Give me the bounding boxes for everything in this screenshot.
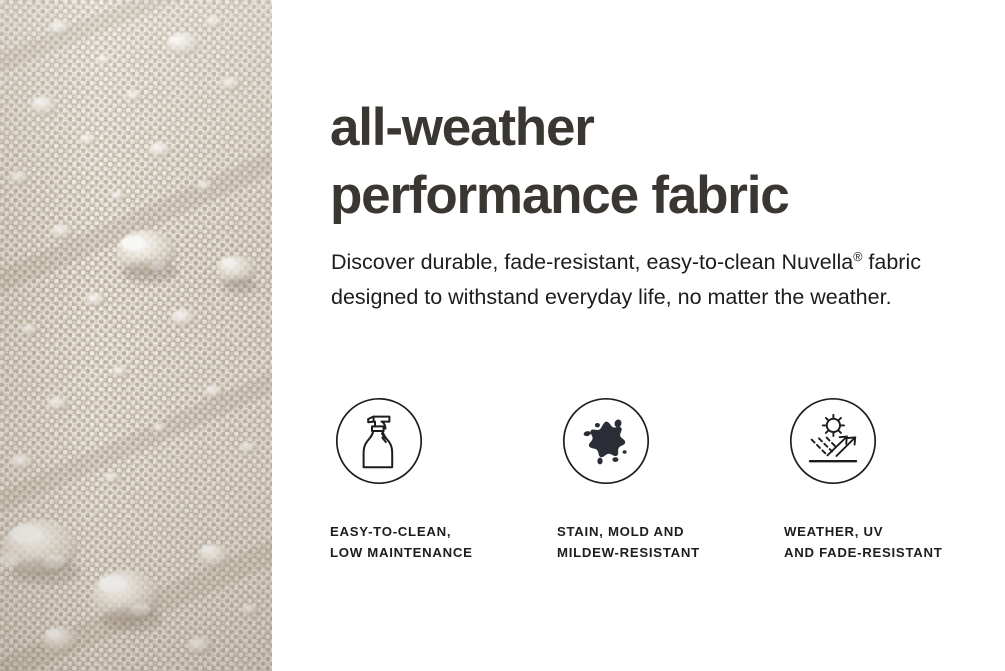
feature-easy-to-clean: EASY-TO-CLEAN, LOW MAINTENANCE	[330, 397, 557, 563]
feature-stain-resistant: STAIN, MOLD AND MILDEW-RESISTANT	[557, 397, 784, 563]
brand-name: Nuvella	[782, 250, 854, 274]
all-weather-fabric-banner: all-weather performance fabric Discover …	[0, 0, 1005, 671]
spray-bottle-icon	[335, 397, 423, 485]
feature-label: STAIN, MOLD AND MILDEW-RESISTANT	[557, 521, 700, 563]
subcopy-line-3: no matter the weather.	[678, 285, 892, 309]
stain-splat-icon	[562, 397, 650, 485]
feature-weather-uv-resistant: WEATHER, UV AND FADE-RESISTANT	[784, 397, 1005, 563]
feature-label: EASY-TO-CLEAN, LOW MAINTENANCE	[330, 521, 473, 563]
feature-label: WEATHER, UV AND FADE-RESISTANT	[784, 521, 943, 563]
sun-uv-reflect-icon	[789, 397, 877, 485]
content-panel: all-weather performance fabric Discover …	[272, 0, 1005, 671]
feature-list: EASY-TO-CLEAN, LOW MAINTENANCE	[330, 397, 1005, 563]
fabric-photo	[0, 0, 272, 671]
fabric-photo-image	[0, 0, 272, 671]
page-title: all-weather performance fabric	[330, 94, 980, 230]
subcopy: Discover durable, fade-resistant, easy-t…	[331, 245, 961, 315]
subcopy-line-1: Discover durable, fade-resistant, easy-t…	[331, 250, 776, 274]
